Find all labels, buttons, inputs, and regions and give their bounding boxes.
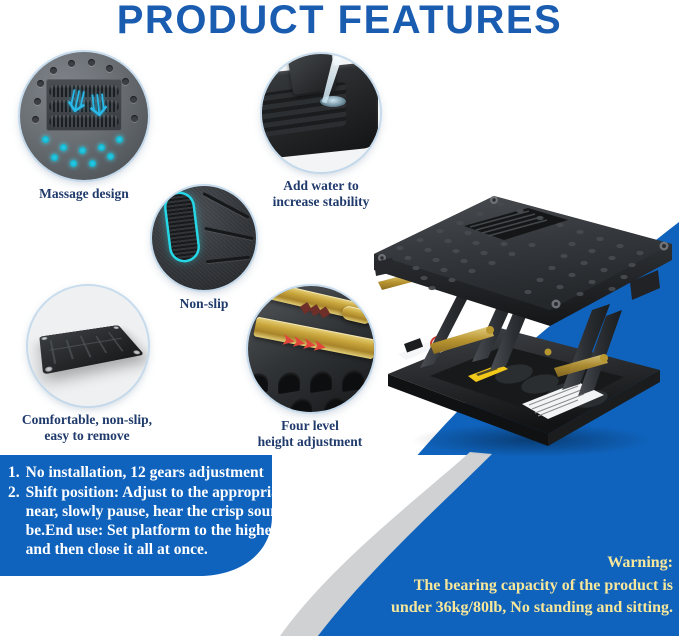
- feature-add-water-label: Add water to increase stability: [253, 178, 389, 210]
- massage-nub-dots: [20, 52, 148, 180]
- warning-line-1: The bearing capacity of the product is: [265, 575, 673, 598]
- feature-four-level-label: Four level height adjustment: [226, 418, 394, 450]
- feature-comfortable-label: Comfortable, non-slip, easy to remove: [0, 412, 180, 444]
- feature-massage: ⤋ ⤋: [20, 52, 154, 202]
- instruction-text: Shift position: Adjust to the appropriat…: [26, 484, 342, 560]
- feature-add-water: Add water to increase stability: [262, 54, 389, 210]
- instructions-list: 1. No installation, 12 gears adjustment …: [8, 464, 342, 560]
- massage-design-art: ⤋ ⤋: [20, 52, 148, 180]
- feature-comfortable-image: [28, 286, 148, 406]
- instruction-item: 1. No installation, 12 gears adjustment: [8, 464, 342, 483]
- page-title: PRODUCT FEATURES: [0, 0, 679, 43]
- removable-mat-art: [28, 286, 148, 406]
- feature-massage-label: Massage design: [14, 186, 154, 202]
- warning-line-2: under 36kg/80lb, No standing and sitting…: [265, 597, 673, 620]
- feature-comfortable: Comfortable, non-slip, easy to remove: [28, 286, 180, 444]
- feature-non-slip-image: [152, 186, 256, 290]
- add-water-art: [262, 54, 380, 172]
- product-image-footrest: [372, 178, 678, 458]
- warning-block: Warning: The bearing capacity of the pro…: [265, 552, 673, 620]
- removable-mat: [39, 325, 144, 375]
- non-slip-art: [152, 186, 256, 290]
- instruction-number: 2.: [8, 484, 20, 560]
- feature-add-water-image: [262, 54, 380, 172]
- instruction-number: 1.: [8, 464, 20, 483]
- instruction-text: No installation, 12 gears adjustment: [26, 464, 342, 483]
- feature-four-level-image: ◆◆◆ ➤➤➤➤: [248, 286, 374, 412]
- height-adjustment-art: ◆◆◆ ➤➤➤➤: [248, 286, 374, 412]
- instruction-item: 2. Shift position: Adjust to the appropr…: [8, 484, 342, 560]
- feature-massage-image: ⤋ ⤋: [20, 52, 148, 180]
- warning-heading: Warning:: [265, 552, 673, 575]
